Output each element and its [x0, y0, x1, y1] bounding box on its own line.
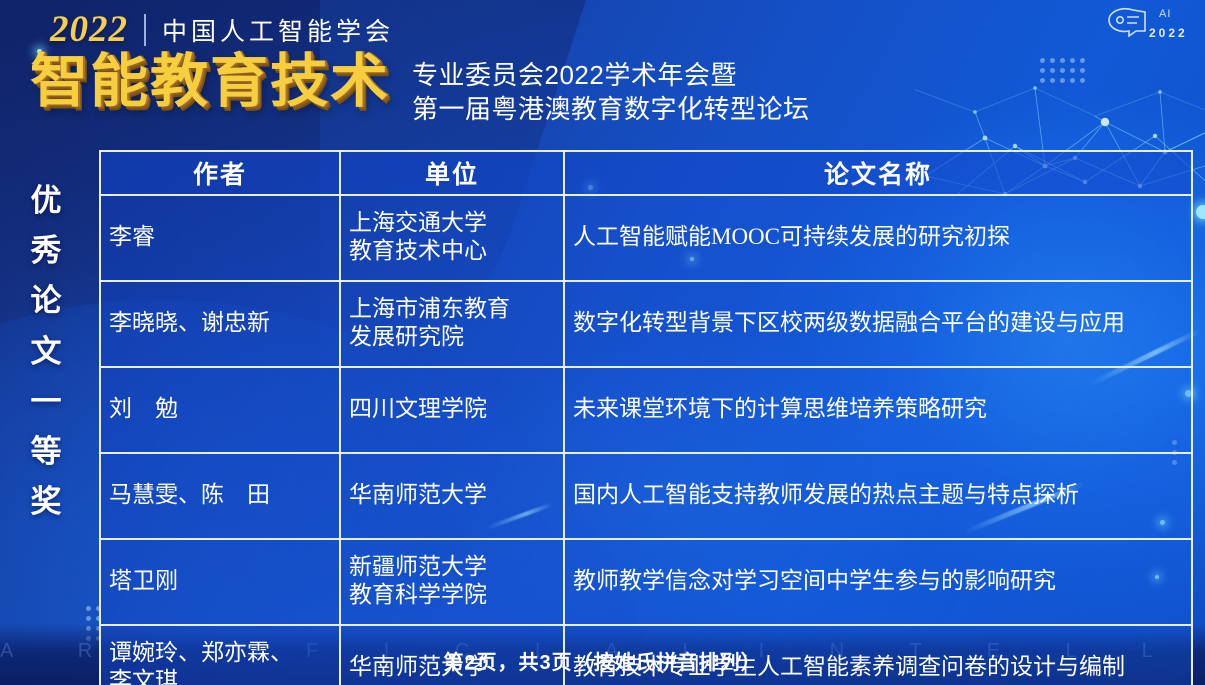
table-header-row: 作者 单位 论文名称 — [100, 151, 1192, 195]
award-label-char: 等 — [31, 427, 62, 477]
table-row: 李睿 上海交通大学教育技术中心 人工智能赋能MOOC可持续发展的研究初探 — [100, 195, 1192, 281]
header-subtitle-line2: 第一届粤港澳教育数字化转型论坛 — [412, 92, 810, 126]
header-year: 2022 — [50, 8, 128, 51]
table-body: 李睿 上海交通大学教育技术中心 人工智能赋能MOOC可持续发展的研究初探 李晓晓… — [100, 195, 1192, 685]
header-divider — [144, 14, 146, 46]
column-header-paper-title: 论文名称 — [564, 151, 1192, 195]
header-top-row: 2022 中国人工智能学会 — [50, 8, 394, 51]
cell-organization: 四川文理学院 — [340, 367, 564, 453]
cell-author: 塔卫刚 — [100, 539, 340, 625]
slide-canvas: A R T I F I C I A L I N T E L L I G E N … — [0, 0, 1205, 685]
table-row: 塔卫刚 新疆师范大学教育科学学院 教师教学信念对学习空间中学生参与的影响研究 — [100, 539, 1192, 625]
table-row: 李晓晓、谢忠新 上海市浦东教育发展研究院 数字化转型背景下区校两级数据融合平台的… — [100, 281, 1192, 367]
award-label-char: 论 — [31, 276, 62, 326]
page-title: 智能教育技术 — [30, 52, 390, 113]
header-subtitle: 专业委员会2022学术年会暨 第一届粤港澳教育数字化转型论坛 — [412, 58, 810, 127]
award-label-char: 文 — [31, 327, 62, 377]
ai-head-icon — [1103, 4, 1155, 38]
cell-organization: 新疆师范大学教育科学学院 — [340, 539, 564, 625]
spark-dot — [1196, 205, 1205, 219]
dot-grid-pattern-top — [1040, 58, 1085, 83]
cell-author: 李睿 — [100, 195, 340, 281]
logo-ai-text: AI — [1159, 8, 1171, 20]
award-label-char: 奖 — [31, 477, 62, 527]
conference-logo: AI 2022 — [1103, 4, 1195, 48]
cell-paper-title: 人工智能赋能MOOC可持续发展的研究初探 — [564, 195, 1192, 281]
header-title-row: 智能教育技术 专业委员会2022学术年会暨 第一届粤港澳教育数字化转型论坛 — [30, 52, 810, 127]
cell-organization: 华南师范大学 — [340, 453, 564, 539]
header-subtitle-line1: 专业委员会2022学术年会暨 — [412, 58, 810, 92]
award-label-char: 优 — [31, 176, 62, 226]
table-row: 马慧雯、陈 田 华南师范大学 国内人工智能支持教师发展的热点主题与特点探析 — [100, 453, 1192, 539]
award-label-char: 秀 — [31, 226, 62, 276]
awards-table: 作者 单位 论文名称 李睿 上海交通大学教育技术中心 人工智能赋能MOOC可持续… — [99, 150, 1193, 685]
cell-paper-title: 未来课堂环境下的计算思维培养策略研究 — [564, 367, 1192, 453]
logo-year-text: 2022 — [1149, 26, 1188, 40]
cell-paper-title: 数字化转型背景下区校两级数据融合平台的建设与应用 — [564, 281, 1192, 367]
award-category-label: 优 秀 论 文 一 等 奖 — [24, 176, 68, 528]
award-label-char: 一 — [31, 377, 62, 427]
table-header: 作者 单位 论文名称 — [100, 151, 1192, 195]
table-row: 刘 勉 四川文理学院 未来课堂环境下的计算思维培养策略研究 — [100, 367, 1192, 453]
header-organization: 中国人工智能学会 — [162, 12, 394, 48]
cell-author: 刘 勉 — [100, 367, 340, 453]
column-header-organization: 单位 — [340, 151, 564, 195]
cell-organization: 上海交通大学教育技术中心 — [340, 195, 564, 281]
awards-table-wrapper: 作者 单位 论文名称 李睿 上海交通大学教育技术中心 人工智能赋能MOOC可持续… — [99, 150, 1193, 685]
cell-author: 李晓晓、谢忠新 — [100, 281, 340, 367]
page-footer: 第2页，共3页（按姓氏拼音排列） — [0, 646, 1205, 675]
column-header-author: 作者 — [100, 151, 340, 195]
cell-paper-title: 教师教学信念对学习空间中学生参与的影响研究 — [564, 539, 1192, 625]
cell-paper-title: 国内人工智能支持教师发展的热点主题与特点探析 — [564, 453, 1192, 539]
cell-author: 马慧雯、陈 田 — [100, 453, 340, 539]
cell-organization: 上海市浦东教育发展研究院 — [340, 281, 564, 367]
